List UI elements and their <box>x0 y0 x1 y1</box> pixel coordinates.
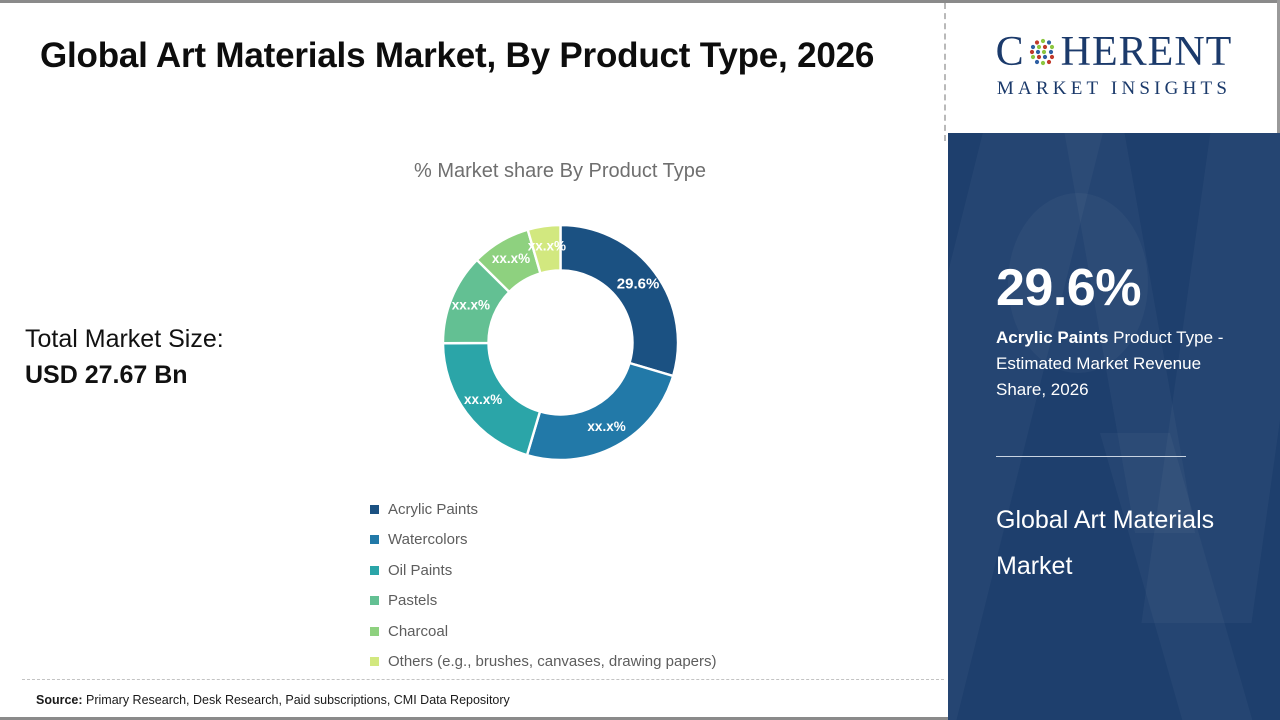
logo-word-rest: HERENT <box>1061 31 1233 73</box>
legend-swatch-icon <box>370 596 379 605</box>
donut-chart-svg: 29.6%xx.x%xx.x%xx.x%xx.x%xx.x% <box>443 225 678 460</box>
legend-item[interactable]: Charcoal <box>370 616 890 647</box>
panel-stat-value: 29.6% <box>996 258 1141 318</box>
page-title: Global Art Materials Market, By Product … <box>40 30 900 82</box>
legend-item[interactable]: Oil Paints <box>370 555 890 586</box>
logo-tagline: MARKET INSIGHTS <box>968 78 1260 100</box>
source-prefix: Source: <box>36 693 83 707</box>
legend-swatch-icon <box>370 657 379 666</box>
panel-stat-highlight: Acrylic Paints <box>996 328 1108 347</box>
company-logo[interactable]: C <box>968 22 1260 118</box>
source-note: Source: Primary Research, Desk Research,… <box>36 693 510 707</box>
donut-slice-label: xx.x% <box>587 419 625 434</box>
legend-item[interactable]: Acrylic Paints <box>370 494 890 525</box>
legend-swatch-icon <box>370 535 379 544</box>
legend-item-label: Others (e.g., brushes, canvases, drawing… <box>388 653 717 670</box>
vertical-dashed-divider <box>944 3 946 141</box>
panel-market-name: Global Art Materials Market <box>996 498 1226 589</box>
highlight-panel: 29.6% Acrylic Paints Product Type - Esti… <box>948 133 1280 720</box>
legend-item[interactable]: Others (e.g., brushes, canvases, drawing… <box>370 647 890 678</box>
donut-slice[interactable] <box>527 363 673 460</box>
donut-slice-label: xx.x% <box>528 238 566 253</box>
panel-divider <box>996 456 1186 457</box>
market-size-label: Total Market Size: <box>25 325 224 353</box>
chart-legend: Acrylic PaintsWatercolorsOil PaintsPaste… <box>370 494 890 677</box>
globe-dots-icon <box>1026 35 1060 69</box>
panel-stat-description: Acrylic Paints Product Type - Estimated … <box>996 325 1254 402</box>
panel-background-pattern <box>948 133 1280 720</box>
donut-slice-label: 29.6% <box>617 276 660 293</box>
donut-slice-label: xx.x% <box>464 392 502 407</box>
donut-slice-label: xx.x% <box>452 298 490 313</box>
source-text: Primary Research, Desk Research, Paid su… <box>86 693 510 707</box>
legend-item-label: Acrylic Paints <box>388 501 478 518</box>
logo-wordmark: C <box>968 26 1260 78</box>
donut-slice[interactable] <box>561 225 679 376</box>
infographic-root: Global Art Materials Market, By Product … <box>0 0 1280 720</box>
legend-item-label: Watercolors <box>388 531 467 548</box>
legend-swatch-icon <box>370 505 379 514</box>
donut-chart: 29.6%xx.x%xx.x%xx.x%xx.x%xx.x% <box>443 225 678 460</box>
chart-caption: % Market share By Product Type <box>330 160 790 183</box>
top-border <box>0 0 1280 3</box>
legend-swatch-icon <box>370 627 379 636</box>
logo-word-group: C <box>996 31 1233 73</box>
donut-slice-label: xx.x% <box>492 251 530 266</box>
logo-letter-c: C <box>996 31 1025 73</box>
legend-item[interactable]: Watercolors <box>370 525 890 556</box>
legend-item-label: Charcoal <box>388 623 448 640</box>
legend-item[interactable]: Pastels <box>370 586 890 617</box>
market-size-value: USD 27.67 Bn <box>25 358 355 394</box>
horizontal-dashed-divider <box>22 679 944 680</box>
legend-item-label: Oil Paints <box>388 562 452 579</box>
total-market-size: Total Market Size: USD 27.67 Bn <box>25 322 355 393</box>
legend-swatch-icon <box>370 566 379 575</box>
legend-item-label: Pastels <box>388 592 437 609</box>
